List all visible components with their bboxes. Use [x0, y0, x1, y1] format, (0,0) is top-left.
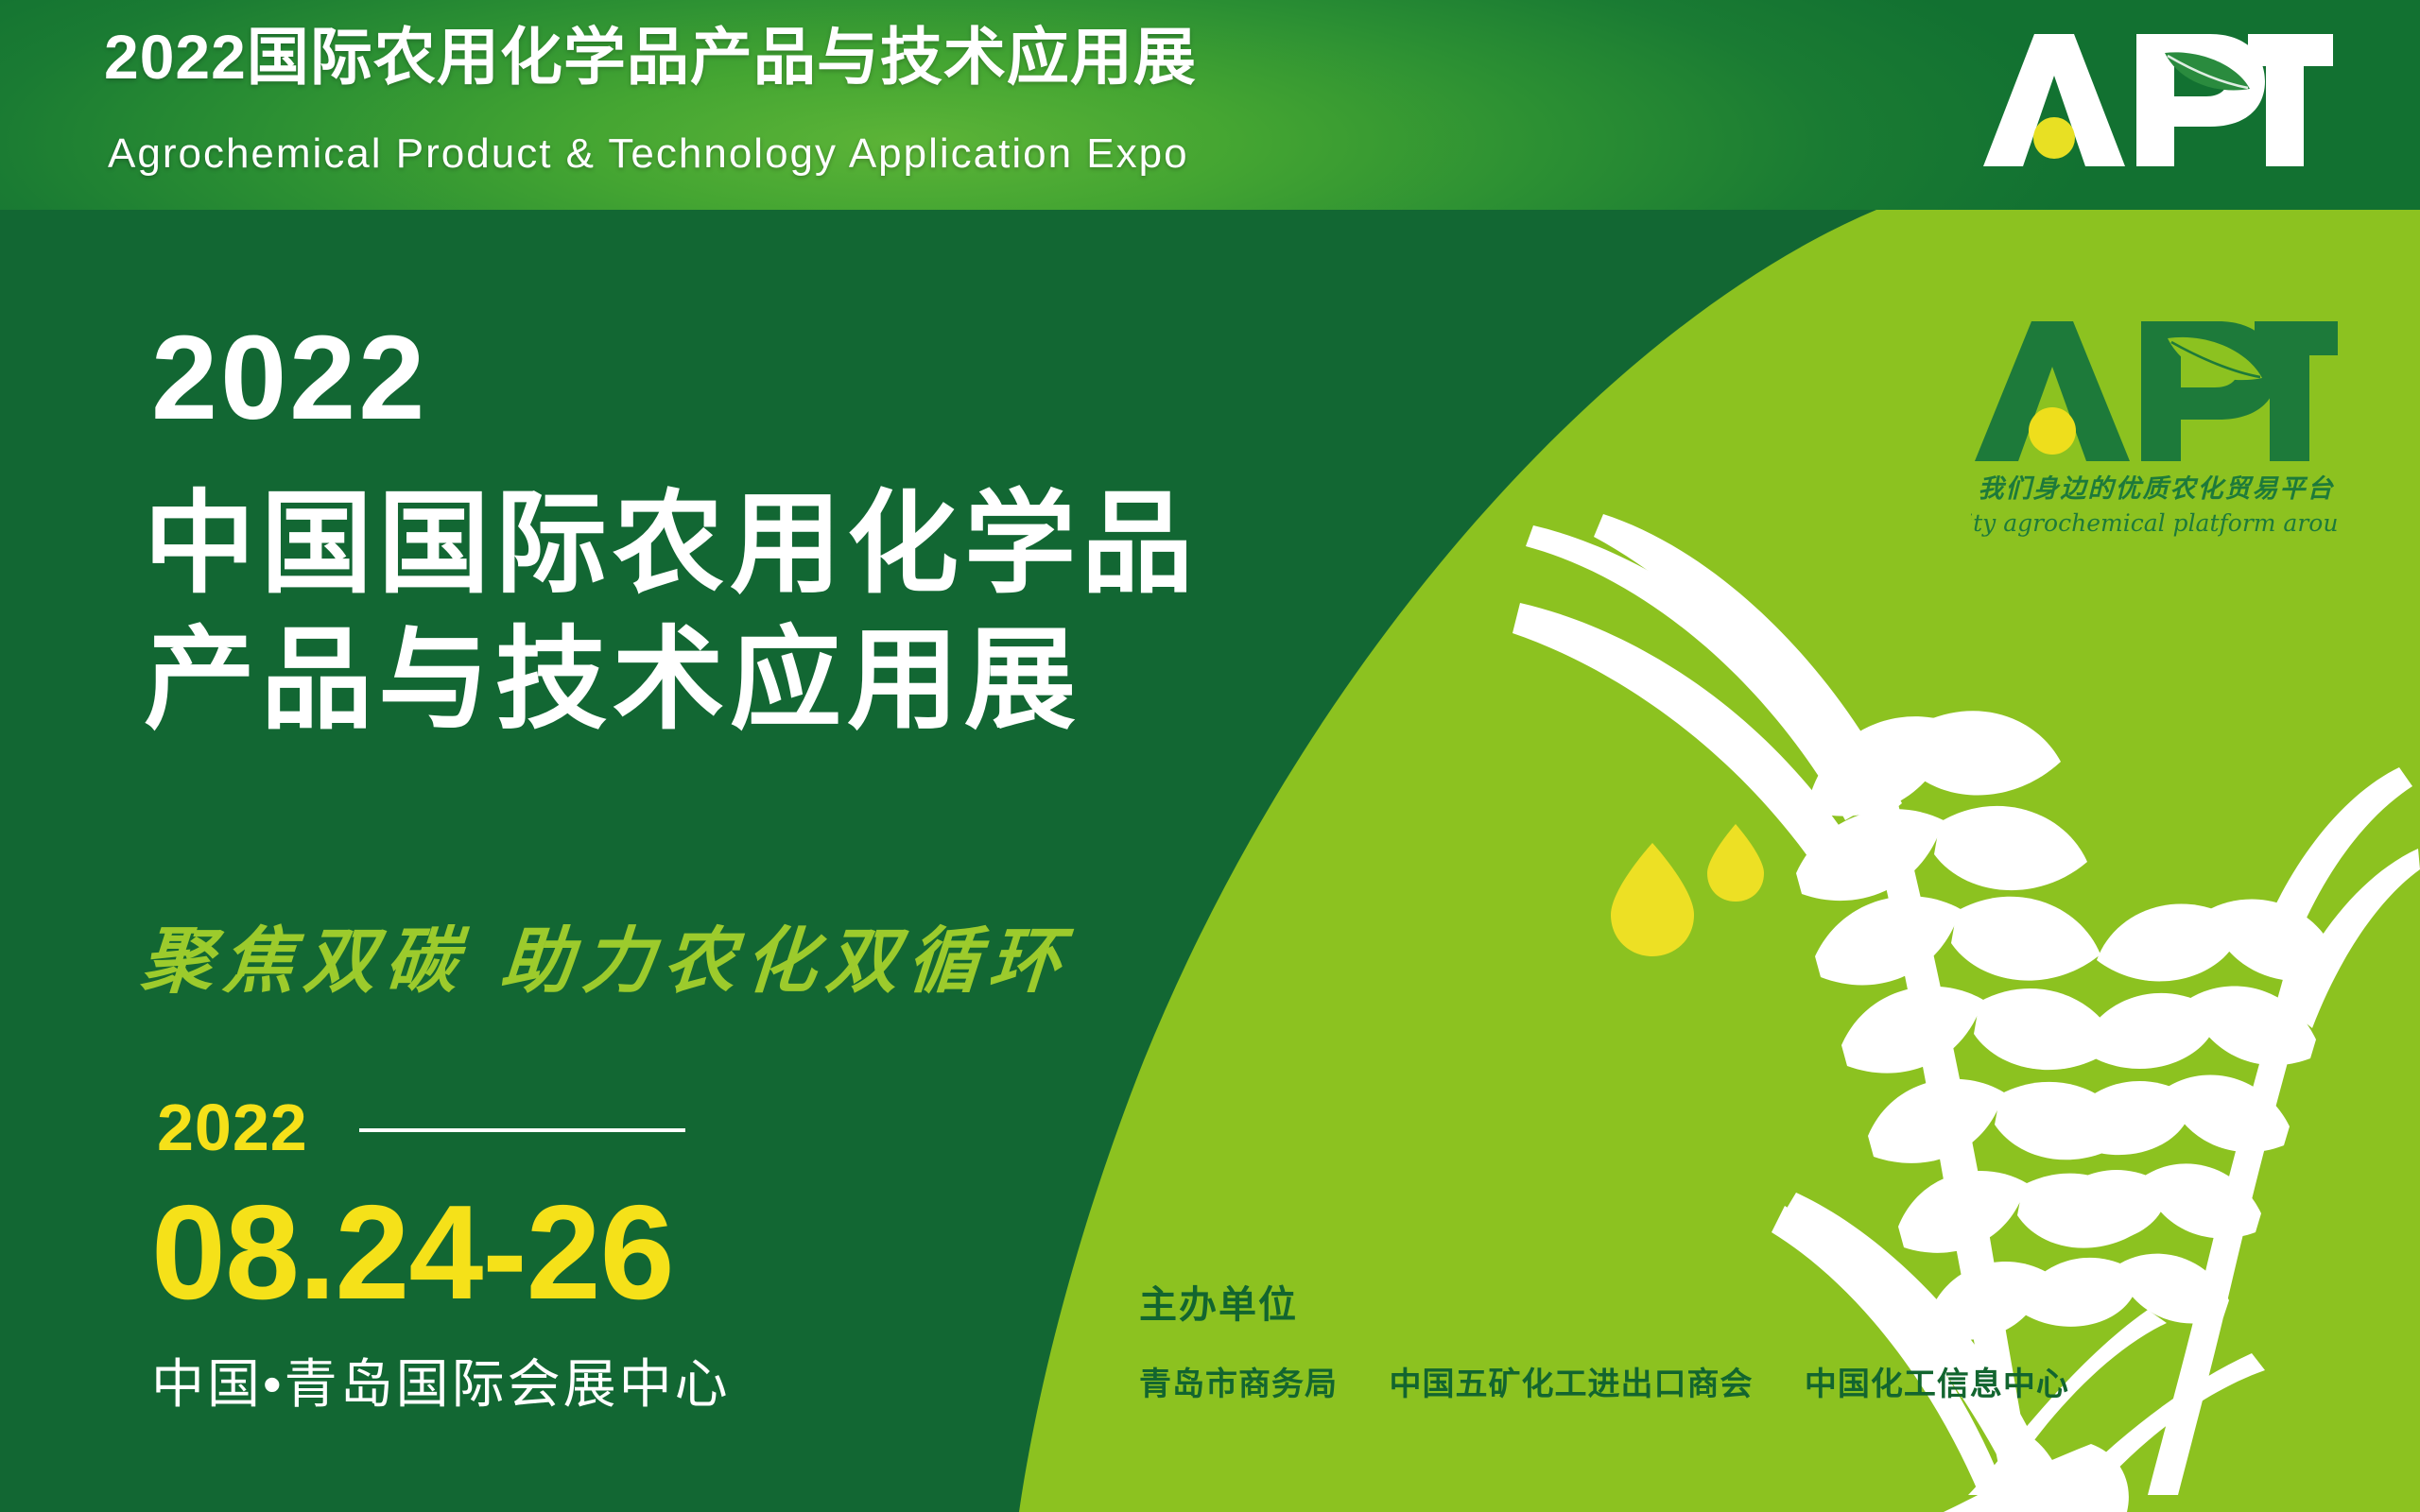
venue-name: 中国•青岛国际会展中心 — [151, 1342, 731, 1418]
event-year: 2022 — [151, 318, 427, 438]
main-title-line1: 中国国际农用化学品 — [144, 477, 1199, 613]
apt-logo-icon — [1976, 26, 2335, 168]
organizers-list: 青岛市商务局 中国五矿化工进出口商会 中国化工信息中心 — [1139, 1358, 2069, 1404]
organizer-item: 中国化工信息中心 — [1805, 1366, 2069, 1402]
brand-tagline-cn: 我们身边的优质农化贸易平台 — [1979, 474, 2335, 504]
header-bar: 2022国际农用化学品产品与技术应用展 Agrochemical Product… — [0, 0, 2420, 210]
water-droplets-icon — [1611, 824, 1764, 956]
header-apt-logo — [1976, 26, 2335, 168]
brand-tagline-en: Quality agrochemical platform around us — [1971, 509, 2340, 537]
poster-canvas: 2022国际农用化学品产品与技术应用展 Agrochemical Product… — [0, 0, 2420, 1512]
organizer-item: 中国五矿化工进出口商会 — [1389, 1366, 1753, 1402]
header-title-en: Agrochemical Product & Technology Applic… — [108, 130, 1189, 178]
organizers-label: 主办单位 — [1139, 1274, 1298, 1329]
event-slogan: 聚焦双碳 助力农化双循环 — [138, 902, 1074, 1006]
apt-logo-dark-icon: 我们身边的优质农化贸易平台 Quality agrochemical platf… — [1971, 312, 2340, 543]
header-title-cn: 2022国际农用化学品产品与技术应用展 — [104, 23, 1197, 92]
date-range: 08.24-26 — [151, 1186, 674, 1320]
brand-apt-logo: 我们身边的优质农化贸易平台 Quality agrochemical platf… — [1971, 312, 2340, 543]
organizer-item: 青岛市商务局 — [1139, 1366, 1338, 1402]
date-divider-line — [359, 1128, 685, 1132]
main-title-line2: 产品与技术应用展 — [144, 613, 1199, 749]
date-year: 2022 — [157, 1094, 308, 1160]
main-title: 中国国际农用化学品 产品与技术应用展 — [144, 477, 1199, 749]
